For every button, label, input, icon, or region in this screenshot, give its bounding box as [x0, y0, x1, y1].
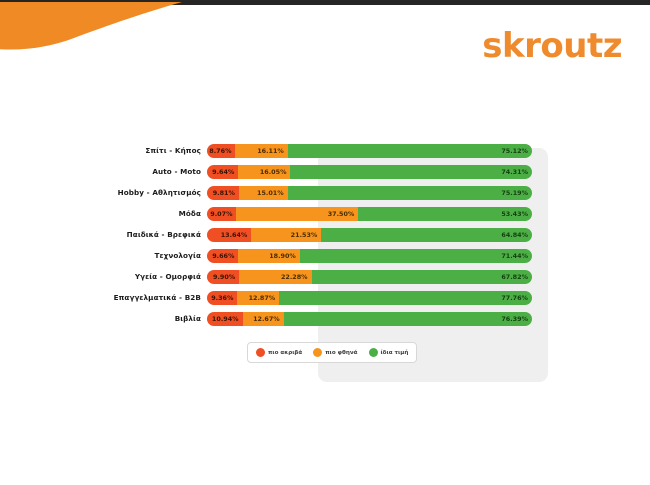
circle-swatch-icon — [369, 348, 378, 357]
bar-segment: 9.07% — [207, 207, 236, 221]
legend-item[interactable]: ίδια τιμή — [369, 348, 409, 357]
segment-value-label: 9.81% — [213, 189, 235, 197]
segment-value-label: 9.64% — [212, 168, 234, 176]
segment-value-label: 64.84% — [501, 231, 528, 239]
bar-segment: 75.19% — [288, 186, 532, 200]
segment-value-label: 22.28% — [281, 273, 308, 281]
category-label: Τεχνολογία — [0, 251, 207, 260]
legend-label: πιο φθηνά — [325, 350, 357, 356]
bar-segment: 9.81% — [207, 186, 239, 200]
bar-segment: 8.76% — [207, 144, 235, 158]
stacked-bar: 9.66%18.90%71.44% — [207, 249, 532, 263]
bar-segment: 16.05% — [238, 165, 290, 179]
stacked-bar: 13.64%21.53%64.84% — [207, 228, 532, 242]
segment-value-label: 74.31% — [501, 168, 528, 176]
chart-row: Μόδα9.07%37.50%53.43% — [0, 203, 650, 224]
slide-canvas: skroutz Σπίτι - Κήπος8.76%16.11%75.12%Au… — [0, 0, 650, 485]
legend-item[interactable]: πιο φθηνά — [313, 348, 357, 357]
segment-value-label: 8.76% — [209, 147, 231, 155]
segment-value-label: 10.94% — [212, 315, 239, 323]
category-label: Μόδα — [0, 209, 207, 218]
bar-segment: 9.66% — [207, 249, 238, 263]
chart-row: Σπίτι - Κήπος8.76%16.11%75.12% — [0, 140, 650, 161]
bar-segment: 15.01% — [239, 186, 288, 200]
stacked-bar: 8.76%16.11%75.12% — [207, 144, 532, 158]
stacked-bar: 9.07%37.50%53.43% — [207, 207, 532, 221]
segment-value-label: 12.67% — [253, 315, 280, 323]
bar-segment: 9.36% — [207, 291, 237, 305]
segment-value-label: 9.66% — [212, 252, 234, 260]
bar-segment: 18.90% — [238, 249, 299, 263]
legend-label: πιο ακριβά — [268, 350, 302, 356]
chart-container: Σπίτι - Κήπος8.76%16.11%75.12%Auto - Mot… — [0, 140, 650, 390]
segment-value-label: 53.43% — [501, 210, 528, 218]
stacked-bar: 9.90%22.28%67.82% — [207, 270, 532, 284]
circle-swatch-icon — [256, 348, 265, 357]
chart-row: Επαγγελματικά - B2B9.36%12.87%77.76% — [0, 287, 650, 308]
chart-row: Auto - Moto9.64%16.05%74.31% — [0, 161, 650, 182]
skroutz-logo: skroutz — [482, 29, 622, 63]
segment-value-label: 9.36% — [211, 294, 233, 302]
legend-item[interactable]: πιο ακριβά — [256, 348, 302, 357]
stacked-bar: 9.81%15.01%75.19% — [207, 186, 532, 200]
bar-segment: 22.28% — [239, 270, 311, 284]
bar-segment: 9.90% — [207, 270, 239, 284]
bar-segment: 67.82% — [312, 270, 532, 284]
category-label: Υγεία - Ομορφιά — [0, 272, 207, 281]
segment-value-label: 37.50% — [328, 210, 355, 218]
legend-label: ίδια τιμή — [381, 350, 409, 356]
category-label: Σπίτι - Κήπος — [0, 146, 207, 155]
stacked-bar: 9.64%16.05%74.31% — [207, 165, 532, 179]
chart-row: Τεχνολογία9.66%18.90%71.44% — [0, 245, 650, 266]
bar-segment: 64.84% — [321, 228, 532, 242]
chart-row: Βιβλία10.94%12.67%76.39% — [0, 308, 650, 329]
chart-row: Παιδικά - Βρεφικά13.64%21.53%64.84% — [0, 224, 650, 245]
segment-value-label: 18.90% — [269, 252, 296, 260]
bar-segment: 53.43% — [358, 207, 532, 221]
bar-segment: 12.67% — [243, 312, 284, 326]
category-label: Βιβλία — [0, 314, 207, 323]
segment-value-label: 67.82% — [501, 273, 528, 281]
segment-value-label: 76.39% — [501, 315, 528, 323]
bar-segment: 75.12% — [288, 144, 532, 158]
segment-value-label: 13.64% — [221, 231, 248, 239]
segment-value-label: 77.76% — [501, 294, 528, 302]
chart-row: Υγεία - Ομορφιά9.90%22.28%67.82% — [0, 266, 650, 287]
segment-value-label: 71.44% — [501, 252, 528, 260]
bar-segment: 13.64% — [207, 228, 251, 242]
bar-segment: 77.76% — [279, 291, 532, 305]
segment-value-label: 15.01% — [257, 189, 284, 197]
chart-row: Hobby - Αθλητισμός9.81%15.01%75.19% — [0, 182, 650, 203]
segment-value-label: 75.12% — [501, 147, 528, 155]
category-label: Επαγγελματικά - B2B — [0, 293, 207, 302]
bar-segment: 74.31% — [290, 165, 532, 179]
circle-swatch-icon — [313, 348, 322, 357]
stacked-bar-rows: Σπίτι - Κήπος8.76%16.11%75.12%Auto - Mot… — [0, 140, 650, 329]
bar-segment: 16.11% — [235, 144, 287, 158]
category-label: Hobby - Αθλητισμός — [0, 188, 207, 197]
segment-value-label: 9.07% — [210, 210, 232, 218]
segment-value-label: 16.11% — [257, 147, 284, 155]
stacked-bar: 9.36%12.87%77.76% — [207, 291, 532, 305]
bar-segment: 71.44% — [300, 249, 532, 263]
category-label: Auto - Moto — [0, 167, 207, 176]
segment-value-label: 12.87% — [249, 294, 276, 302]
bar-segment: 76.39% — [284, 312, 532, 326]
bar-segment: 12.87% — [237, 291, 279, 305]
bar-segment: 9.64% — [207, 165, 238, 179]
bar-segment: 37.50% — [236, 207, 358, 221]
segment-value-label: 21.53% — [291, 231, 318, 239]
category-label: Παιδικά - Βρεφικά — [0, 230, 207, 239]
chart-legend: πιο ακριβάπιο φθηνάίδια τιμή — [247, 342, 417, 363]
bar-segment: 10.94% — [207, 312, 243, 326]
bar-segment: 21.53% — [251, 228, 321, 242]
stacked-bar: 10.94%12.67%76.39% — [207, 312, 532, 326]
segment-value-label: 75.19% — [501, 189, 528, 197]
brand-swoosh-decoration — [0, 2, 196, 56]
segment-value-label: 16.05% — [260, 168, 287, 176]
segment-value-label: 9.90% — [213, 273, 235, 281]
